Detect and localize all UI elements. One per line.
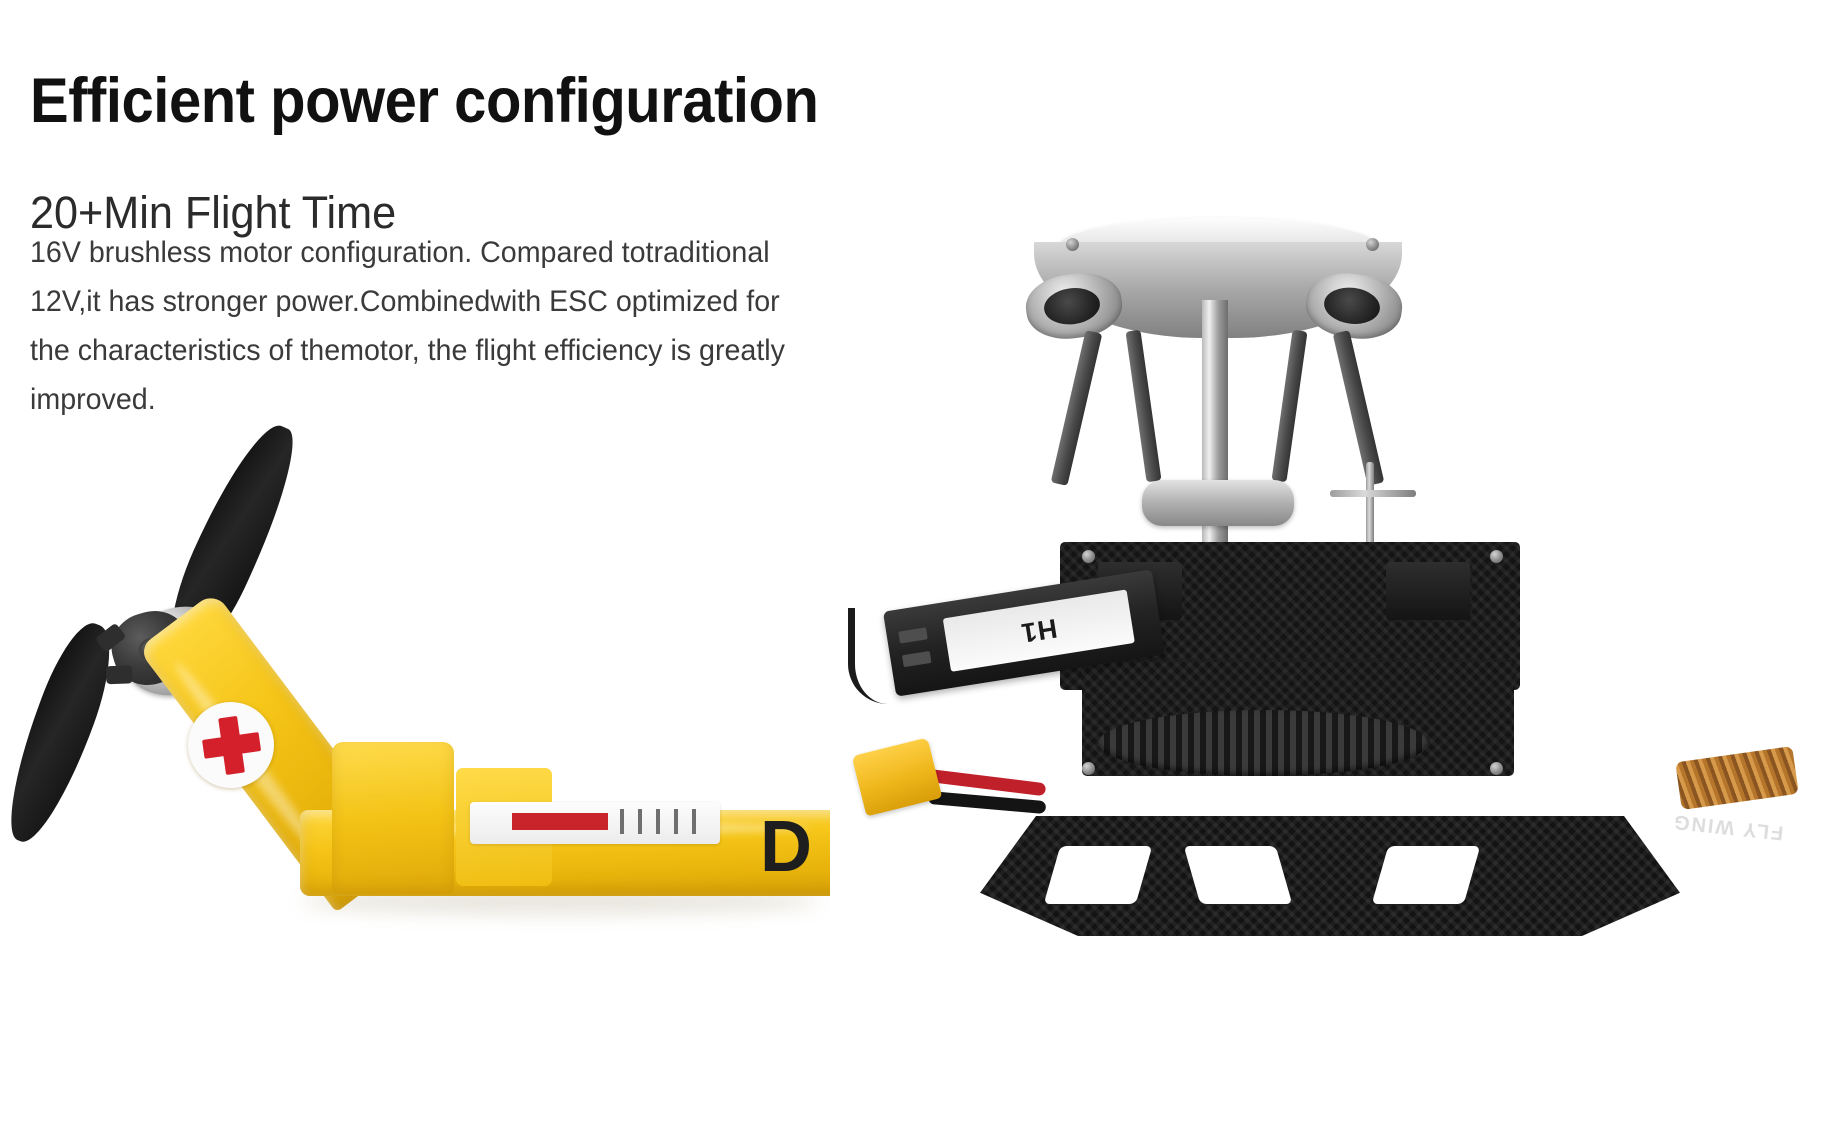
grip-bore bbox=[1322, 284, 1382, 327]
grip-bore bbox=[1042, 285, 1102, 328]
servo-right bbox=[1386, 562, 1470, 620]
rotor-head-photo: H1 FLY WING bbox=[830, 190, 1838, 970]
cross-bar-horizontal bbox=[202, 732, 261, 759]
control-rod-horizontal bbox=[1330, 490, 1416, 497]
motor-windings bbox=[1675, 746, 1799, 810]
pitch-link-right-outer bbox=[1333, 330, 1385, 486]
frame-bolt bbox=[1490, 550, 1503, 563]
strip-dash bbox=[692, 809, 696, 834]
carbon-base-plate bbox=[980, 816, 1680, 936]
pitch-link-left-inner bbox=[1125, 330, 1161, 483]
swashplate bbox=[1142, 480, 1294, 526]
page-title: Efficient power configuration bbox=[30, 66, 818, 137]
plate-cutout bbox=[1184, 846, 1293, 904]
brand-mark: FLY WING bbox=[1672, 809, 1785, 844]
frame-bolt bbox=[1490, 762, 1503, 775]
rotor-bolt bbox=[1366, 238, 1379, 251]
strip-dash bbox=[638, 809, 642, 834]
propeller-arm-photo: D bbox=[0, 420, 860, 960]
frame-bolt bbox=[1082, 762, 1095, 775]
rotor-bolt bbox=[1066, 238, 1079, 251]
label-strip bbox=[470, 802, 720, 844]
esc-wire-harness bbox=[848, 608, 909, 704]
plate-cutout bbox=[1372, 846, 1481, 904]
pitch-link-left-outer bbox=[1051, 330, 1103, 486]
plate-cutout bbox=[1044, 846, 1153, 904]
strip-dash bbox=[656, 809, 660, 834]
strip-red-band bbox=[512, 813, 608, 830]
frame-bolt bbox=[1082, 550, 1095, 563]
strip-dash bbox=[620, 809, 624, 834]
main-gear bbox=[1098, 710, 1428, 776]
esc-label: H1 bbox=[943, 589, 1135, 671]
battery-housing bbox=[332, 742, 454, 894]
xt60-connector bbox=[852, 737, 943, 816]
pitch-link-right-inner bbox=[1271, 330, 1307, 483]
brand-letter: D bbox=[760, 806, 810, 888]
hub-tab bbox=[106, 665, 133, 684]
strip-dash bbox=[674, 809, 678, 834]
